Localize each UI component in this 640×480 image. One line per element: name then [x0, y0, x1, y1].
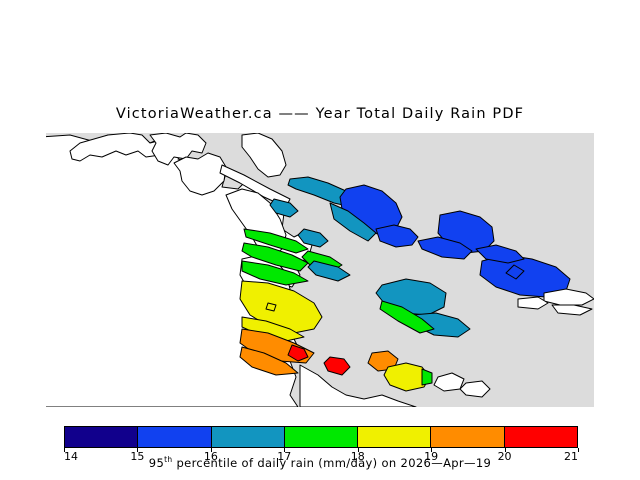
colorbar-swatch-17-18: [285, 427, 358, 447]
land-east-strip: [544, 289, 594, 305]
colorbar-swatch-15-16: [138, 427, 211, 447]
colorbar-swatch-16-17: [212, 427, 285, 447]
region-gulf-islands-blue-tail: [376, 225, 418, 247]
region-protection-green-tip: [422, 369, 432, 385]
region-discovery-red: [324, 357, 350, 375]
map-panel: [46, 133, 594, 407]
colorbar-swatch-19-20: [431, 427, 504, 447]
colorbar-swatch-14-15: [65, 427, 138, 447]
caption-prefix: 95: [149, 456, 164, 470]
page-title: VictoriaWeather.ca —— Year Total Daily R…: [0, 106, 640, 122]
caption-rest: percentile of daily rain (mm/day) on 202…: [173, 456, 492, 470]
colorbar-tick-21: [578, 448, 579, 452]
caption-superscript: th: [164, 455, 172, 464]
land-se-islet-a: [434, 373, 464, 391]
colorbar-swatch-20-21: [505, 427, 577, 447]
land-centre-sliver: [242, 133, 286, 177]
colorbar: 1415161718192021: [64, 426, 578, 448]
colorbar-caption: 95th percentile of daily rain (mm/day) o…: [0, 456, 640, 470]
colorbar-swatch-18-19: [358, 427, 431, 447]
land-overlay-group: [300, 289, 594, 407]
land-se-islet-b: [460, 381, 490, 397]
map-canvas: [46, 133, 594, 407]
colorbar-swatches: [64, 426, 578, 448]
land-east-strip-2: [552, 305, 592, 315]
